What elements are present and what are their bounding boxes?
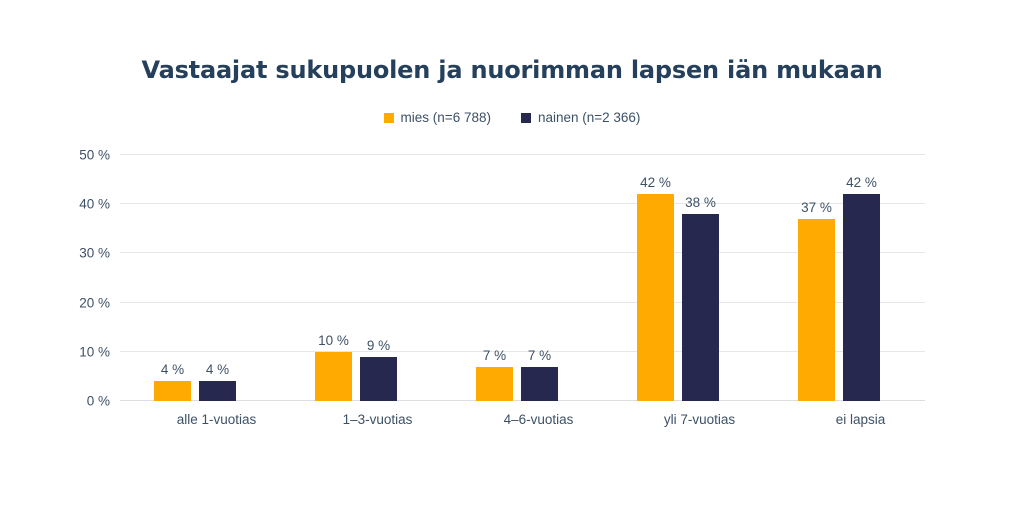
bar-value-label: 7 % — [518, 348, 562, 363]
legend-swatch-nainen — [521, 113, 531, 123]
bar-value-label: 4 % — [151, 362, 195, 377]
bar-value-label: 37 % — [795, 200, 839, 215]
bar-value-label: 9 % — [357, 338, 401, 353]
bar-group: 4 %4 % — [154, 155, 236, 401]
y-axis-tick-label: 40 % — [48, 197, 110, 212]
bar-mies[interactable]: 37 % — [798, 219, 835, 401]
bar-nainen[interactable]: 9 % — [360, 357, 397, 401]
x-axis: alle 1-vuotias1–3-vuotias4–6-vuotiasyli … — [120, 412, 925, 436]
bar-nainen[interactable]: 38 % — [682, 214, 719, 401]
bar-group: 7 %7 % — [476, 155, 558, 401]
legend-swatch-mies — [384, 113, 394, 123]
bar-value-label: 42 % — [840, 175, 884, 190]
bar-mies[interactable]: 7 % — [476, 367, 513, 401]
y-axis-tick-label: 0 % — [48, 394, 110, 409]
legend-label-nainen: nainen (n=2 366) — [538, 110, 640, 125]
bar-mies[interactable]: 42 % — [637, 194, 674, 401]
bar-value-label: 10 % — [312, 333, 356, 348]
plot-area: 4 %4 %10 %9 %7 %7 %42 %38 %37 %42 % — [120, 155, 925, 401]
bar-nainen[interactable]: 4 % — [199, 381, 236, 401]
legend-item-mies[interactable]: mies (n=6 788) — [384, 110, 491, 125]
bar-nainen[interactable]: 42 % — [843, 194, 880, 401]
y-axis-tick-label: 50 % — [48, 148, 110, 163]
bar-group: 42 %38 % — [637, 155, 719, 401]
bar-value-label: 42 % — [634, 175, 678, 190]
bar-group: 37 %42 % — [798, 155, 880, 401]
legend-label-mies: mies (n=6 788) — [401, 110, 491, 125]
y-axis-tick-label: 30 % — [48, 246, 110, 261]
bar-group: 10 %9 % — [315, 155, 397, 401]
chart-container: Vastaajat sukupuolen ja nuorimman lapsen… — [0, 0, 1024, 506]
bar-value-label: 7 % — [473, 348, 517, 363]
bar-value-label: 4 % — [196, 362, 240, 377]
legend-item-nainen[interactable]: nainen (n=2 366) — [521, 110, 640, 125]
bar-mies[interactable]: 10 % — [315, 352, 352, 401]
y-axis-tick-label: 20 % — [48, 295, 110, 310]
y-axis-tick-label: 10 % — [48, 344, 110, 359]
chart-legend: mies (n=6 788) nainen (n=2 366) — [0, 110, 1024, 125]
x-axis-category-label: ei lapsia — [766, 412, 956, 427]
y-axis: 0 %10 %20 %30 %40 %50 % — [48, 155, 110, 401]
bar-mies[interactable]: 4 % — [154, 381, 191, 401]
bar-value-label: 38 % — [679, 195, 723, 210]
chart-title: Vastaajat sukupuolen ja nuorimman lapsen… — [0, 56, 1024, 84]
bar-nainen[interactable]: 7 % — [521, 367, 558, 401]
